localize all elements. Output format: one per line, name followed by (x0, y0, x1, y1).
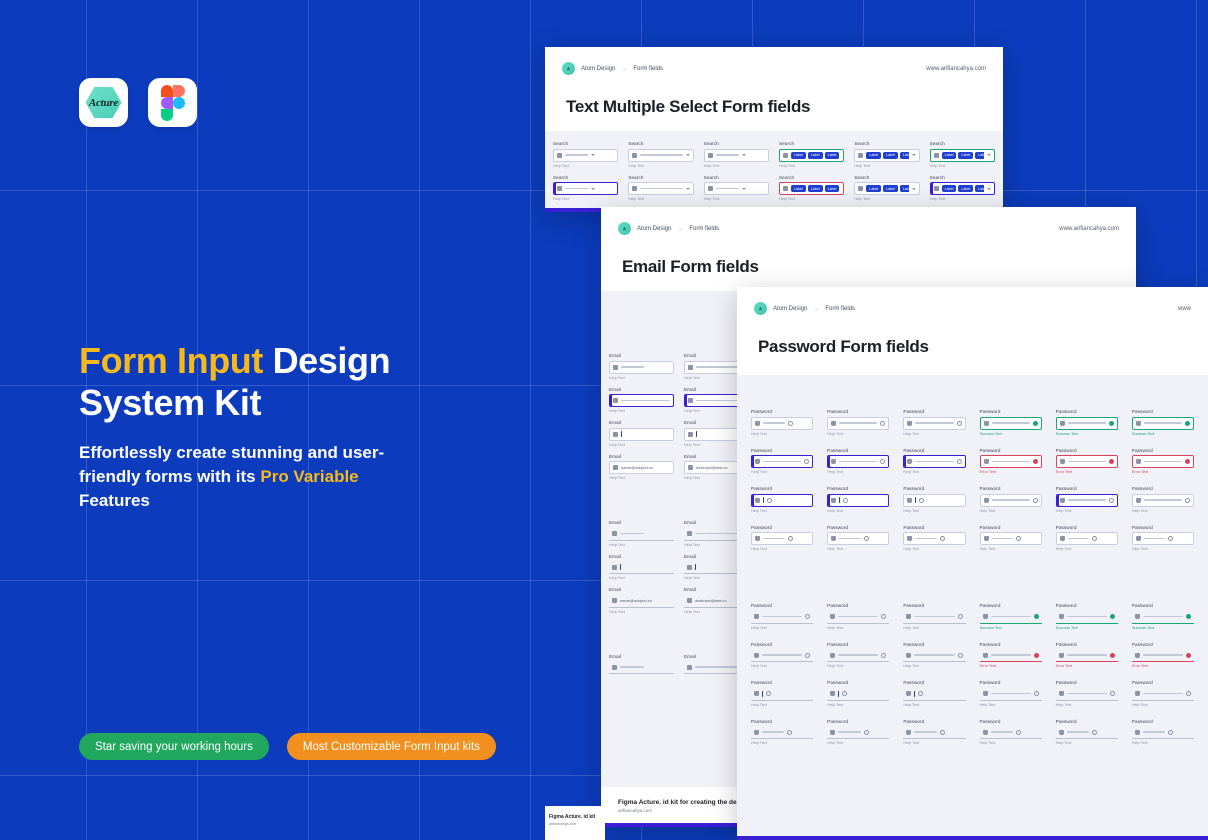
list-item[interactable]: Password Help Text (903, 719, 965, 746)
lock-icon (755, 459, 760, 464)
lock-icon (906, 730, 911, 735)
helper-text: Help Text (980, 741, 1042, 745)
eye-icon[interactable] (881, 614, 886, 619)
list-item[interactable]: Password Success Text (1056, 409, 1118, 436)
atom-logo-icon: A (562, 62, 575, 75)
list-item[interactable]: Password Help Text (751, 642, 813, 669)
chip-group: Label Label Label (942, 185, 984, 192)
mail-icon (612, 598, 617, 603)
list-item[interactable]: Password Success Text (980, 409, 1042, 436)
cta-secondary-button[interactable]: Most Customizable Form Input kits (287, 733, 496, 760)
lock-icon (831, 536, 836, 541)
breadcrumb-separator-icon: → (677, 226, 683, 232)
eye-icon[interactable] (842, 691, 847, 696)
helper-text: Help Text (779, 164, 844, 168)
eye-icon[interactable] (1186, 653, 1191, 658)
email-field: name@subject.co (609, 461, 674, 474)
card-header: A Atom Design → Form fields www.arifianc… (601, 207, 1136, 277)
list-item[interactable]: Password Help Text (980, 719, 1042, 746)
lock-icon (983, 653, 988, 658)
list-item[interactable]: Search Help Text (628, 175, 693, 202)
list-item[interactable]: Password Help Text (827, 642, 889, 669)
password-field (827, 726, 889, 739)
eye-icon[interactable] (1016, 536, 1021, 541)
chip[interactable]: Label (808, 152, 823, 159)
helper-text: Help Text (1056, 741, 1118, 745)
chip[interactable]: Label (883, 185, 898, 192)
lock-icon (907, 498, 912, 503)
chevron-down-icon[interactable] (987, 188, 991, 190)
list-item[interactable]: Password Help Text (1132, 680, 1194, 707)
list-item[interactable]: Password Error Text (980, 448, 1042, 475)
list-item[interactable]: Password Help Text (1132, 486, 1194, 513)
card-url: www.arifiancahya.com (926, 66, 986, 72)
chip[interactable]: Label (866, 152, 881, 159)
field-label: Password (980, 448, 1042, 453)
list-item[interactable]: Password Error Text (1132, 448, 1194, 475)
list-item[interactable]: Search Label Label Label Help Text (854, 141, 919, 168)
lock-icon (755, 421, 760, 426)
list-item[interactable]: Password Success Text (980, 603, 1042, 630)
list-item[interactable]: Password Help Text (827, 680, 889, 707)
helper-text: Error Text (1056, 470, 1118, 474)
list-item[interactable]: Password Help Text (751, 603, 813, 630)
helper-text: Help Text (628, 164, 693, 168)
chip[interactable]: Label (942, 185, 957, 192)
password-field (903, 726, 965, 739)
breadcrumb: A Atom Design → Form fields www (754, 302, 1191, 315)
helper-text: Help Text (609, 610, 674, 614)
list-item[interactable]: Password Help Text (751, 719, 813, 746)
list-item[interactable]: Search Help Text (704, 141, 769, 168)
helper-text: Help Text (609, 443, 674, 447)
eye-icon[interactable] (918, 691, 923, 696)
email-value: name@subject.co (621, 465, 670, 470)
list-item[interactable]: Password Help Text (751, 486, 813, 513)
password-field (1132, 417, 1194, 430)
eye-icon[interactable] (864, 730, 869, 735)
list-item[interactable]: Search Label Label Label Help Text (854, 175, 919, 202)
chevron-down-icon[interactable] (912, 188, 916, 190)
list-item[interactable]: Password Error Text (1132, 642, 1194, 669)
list-item[interactable]: Password Help Text (751, 448, 813, 475)
eye-icon[interactable] (1109, 459, 1114, 464)
helper-text: Help Text (827, 470, 889, 474)
acture-logo: Acture (79, 78, 128, 127)
list-item[interactable]: Password Help Text (827, 719, 889, 746)
search-input-chips: Label Label Label (779, 182, 844, 195)
list-item[interactable]: Search Help Text (704, 175, 769, 202)
chevron-down-icon[interactable] (686, 154, 690, 156)
breadcrumb-brand[interactable]: Atom Design (773, 306, 807, 312)
field-label: Password (903, 603, 965, 608)
lock-icon (831, 498, 836, 503)
password-field (1056, 726, 1118, 739)
search-icon (557, 186, 562, 191)
chip[interactable]: Label (958, 185, 973, 192)
password-field (1056, 455, 1118, 468)
list-item[interactable]: Password Success Text (1132, 409, 1194, 436)
lock-icon (830, 614, 835, 619)
helper-text: Help Text (751, 470, 813, 474)
list-item[interactable]: Search Label Label Label Help Text (930, 141, 995, 168)
list-item[interactable]: Email Help Text (609, 420, 674, 447)
acture-logo-label: Acture (86, 86, 122, 120)
list-item[interactable]: Password Success Text (1132, 603, 1194, 630)
list-item[interactable]: Search Help Text (553, 175, 618, 202)
helper-text: Help Text (751, 703, 813, 707)
list-item[interactable]: Password Help Text (903, 409, 965, 436)
list-item[interactable]: Search Label Label Label Help Text (779, 141, 844, 168)
eye-icon[interactable] (805, 653, 810, 658)
field-grid-email: Email Help Text Email Help Text Email He… (609, 353, 749, 480)
password-field (980, 688, 1042, 701)
password-field (827, 455, 889, 468)
helper-text: Help Text (1132, 741, 1194, 745)
breadcrumb-brand[interactable]: Atom Design (637, 226, 671, 232)
chip-group: Label Label Label (791, 152, 840, 159)
password-field (1056, 688, 1118, 701)
email-field (609, 428, 674, 441)
helper-text: Help Text (609, 409, 674, 413)
lock-icon (1060, 459, 1065, 464)
helper-text: Error Text (1056, 664, 1118, 668)
eye-icon[interactable] (1092, 730, 1097, 735)
eye-icon[interactable] (1109, 498, 1114, 503)
field-label: Password (1132, 486, 1194, 491)
chip[interactable]: Label (825, 152, 840, 159)
email-field (609, 528, 674, 541)
password-field (980, 532, 1042, 545)
password-field (751, 532, 813, 545)
lock-icon (907, 536, 912, 541)
eye-icon[interactable] (1186, 614, 1191, 619)
chip[interactable]: Label (791, 185, 806, 192)
field-label: Password (980, 486, 1042, 491)
helper-text: Help Text (827, 741, 889, 745)
field-label: Password (1056, 680, 1118, 685)
helper-text: Help Text (751, 741, 813, 745)
chip[interactable]: Label (975, 185, 984, 192)
field-label: Password (1132, 603, 1194, 608)
field-label: Password (827, 719, 889, 724)
list-item[interactable]: Password Help Text (903, 603, 965, 630)
chip[interactable]: Label (866, 185, 881, 192)
chip[interactable]: Label (958, 152, 973, 159)
headline-accent: Form Input (79, 340, 263, 381)
field-label: Password (903, 409, 965, 414)
field-label: Email (609, 353, 674, 358)
list-item[interactable]: Password Help Text (827, 603, 889, 630)
list-item[interactable]: Email Help Text (609, 520, 674, 547)
helper-text: Help Text (609, 543, 674, 547)
password-field (827, 417, 889, 430)
figma-logo (148, 78, 197, 127)
lock-icon (755, 536, 760, 541)
eye-icon[interactable] (1110, 691, 1115, 696)
card-password-form-fields[interactable]: A Atom Design → Form fields www Password… (737, 287, 1208, 840)
breadcrumb-brand[interactable]: Atom Design (581, 66, 615, 72)
eye-icon[interactable] (919, 498, 924, 503)
password-field (903, 649, 965, 662)
list-item[interactable]: Password Help Text (1056, 719, 1118, 746)
field-grid-password-underline: Password Help Text Password Help Text Pa… (751, 603, 1194, 745)
lock-icon (1060, 421, 1065, 426)
list-item[interactable]: Password Help Text (903, 680, 965, 707)
list-item[interactable]: Email (609, 654, 674, 675)
mail-icon (612, 665, 617, 670)
helper-text: Help Text (751, 664, 813, 668)
acture-hexagon-icon: Acture (86, 86, 122, 120)
lock-icon (1135, 614, 1140, 619)
password-field (903, 455, 965, 468)
chevron-down-icon[interactable] (742, 154, 746, 156)
eye-icon[interactable] (766, 691, 771, 696)
eye-icon[interactable] (1033, 421, 1038, 426)
lock-icon (831, 421, 836, 426)
card-url: www.arifiancahya.com (1059, 226, 1119, 232)
chevron-down-icon[interactable] (912, 154, 916, 156)
field-label: Password (903, 642, 965, 647)
list-item[interactable]: Password Help Text (1056, 525, 1118, 552)
eye-icon[interactable] (958, 653, 963, 658)
list-item[interactable]: Email name@subject.co Help Text (609, 454, 674, 481)
list-item[interactable]: Password Help Text (903, 525, 965, 552)
helper-text: Help Text (903, 626, 965, 630)
hero-content: Acture Form Input Design System Kit Effo… (0, 0, 545, 840)
lock-icon (1059, 653, 1064, 658)
eye-icon[interactable] (1168, 730, 1173, 735)
field-label: Password (1056, 642, 1118, 647)
list-item[interactable]: Password Help Text (827, 525, 889, 552)
helper-text: Help Text (930, 197, 995, 201)
eye-icon[interactable] (1034, 691, 1039, 696)
chip[interactable]: Label (900, 185, 909, 192)
eye-icon[interactable] (787, 730, 792, 735)
list-item[interactable]: Password Help Text (751, 409, 813, 436)
password-field (980, 494, 1042, 507)
eye-icon[interactable] (1034, 653, 1039, 658)
lock-icon (830, 691, 835, 696)
list-item[interactable]: Search Label Label Label Help Text (930, 175, 995, 202)
helper-text: Help Text (827, 432, 889, 436)
eye-icon[interactable] (957, 459, 962, 464)
list-item[interactable]: Email Help Text (609, 387, 674, 414)
list-item[interactable]: Password Help Text (980, 486, 1042, 513)
eye-icon[interactable] (880, 421, 885, 426)
chip[interactable]: Label (883, 152, 898, 159)
list-item[interactable]: Password Help Text (1056, 680, 1118, 707)
field-label: Email (609, 520, 674, 525)
field-label: Search (553, 175, 618, 180)
eye-icon[interactable] (1092, 536, 1097, 541)
list-item[interactable]: Search Help Text (553, 141, 618, 168)
password-field (1056, 611, 1118, 624)
helper-text: Help Text (827, 509, 889, 513)
field-label: Password (827, 525, 889, 530)
field-label: Search (930, 141, 995, 146)
password-field (827, 532, 889, 545)
eye-icon[interactable] (940, 536, 945, 541)
breadcrumb-separator-icon: → (813, 306, 819, 312)
eye-icon[interactable] (1033, 459, 1038, 464)
lock-icon (906, 691, 911, 696)
headline-rest: Design (263, 340, 390, 381)
search-input (704, 182, 769, 195)
helper-text: Help Text (1132, 509, 1194, 513)
mail-icon (612, 531, 617, 536)
subtitle-accent: Pro Variable (260, 467, 358, 486)
list-item[interactable]: Email Help Text (609, 353, 674, 380)
logo-row: Acture (79, 78, 197, 127)
chevron-down-icon[interactable] (591, 154, 595, 156)
eye-icon[interactable] (1109, 421, 1114, 426)
lock-icon (1060, 498, 1065, 503)
helper-text: Help Text (903, 664, 965, 668)
card-text-multiple-select[interactable]: A Atom Design → Form fields www.arifianc… (545, 47, 1003, 212)
eye-icon[interactable] (1185, 421, 1190, 426)
list-item[interactable]: Password Error Text (1056, 642, 1118, 669)
eye-icon[interactable] (1034, 614, 1039, 619)
list-item[interactable]: Password Help Text (1056, 486, 1118, 513)
eye-icon[interactable] (804, 459, 809, 464)
eye-icon[interactable] (864, 536, 869, 541)
lock-icon (906, 614, 911, 619)
eye-icon[interactable] (1185, 498, 1190, 503)
chip[interactable]: Label (808, 185, 823, 192)
password-field (980, 611, 1042, 624)
chevron-down-icon[interactable] (686, 188, 690, 190)
figma-icon (161, 85, 185, 120)
lock-icon (1059, 614, 1064, 619)
helper-text: Help Text (1056, 703, 1118, 707)
mail-icon (688, 465, 693, 470)
email-field (609, 361, 674, 374)
cta-row: Star saving your working hours Most Cust… (79, 733, 496, 760)
list-item[interactable]: Password Help Text (827, 448, 889, 475)
eye-icon[interactable] (958, 614, 963, 619)
chip[interactable]: Label (975, 152, 984, 159)
password-field (980, 417, 1042, 430)
eye-icon[interactable] (880, 459, 885, 464)
list-item[interactable]: Search Help Text (628, 141, 693, 168)
list-item[interactable]: Password Help Text (751, 525, 813, 552)
lock-icon (754, 614, 759, 619)
field-label: Password (1132, 642, 1194, 647)
list-item[interactable]: Password Success Text (1056, 603, 1118, 630)
helper-text: Success Text (1132, 626, 1194, 630)
list-item[interactable]: Password Help Text (827, 409, 889, 436)
eye-icon[interactable] (1168, 536, 1173, 541)
eye-icon[interactable] (788, 421, 793, 426)
eye-icon[interactable] (881, 653, 886, 658)
breadcrumb-page[interactable]: Form fields (689, 226, 719, 232)
card-body-password: Password Help Text Password Help Text Pa… (737, 375, 1208, 836)
eye-icon[interactable] (1110, 653, 1115, 658)
mail-icon (688, 432, 693, 437)
password-field (827, 649, 889, 662)
mail-icon (613, 465, 618, 470)
chip[interactable]: Label (942, 152, 957, 159)
chevron-down-icon[interactable] (742, 188, 746, 190)
helper-text: Help Text (827, 703, 889, 707)
list-item[interactable]: Password Help Text (903, 642, 965, 669)
email-field (609, 394, 674, 407)
chip[interactable]: Label (791, 152, 806, 159)
list-item[interactable]: Password Error Text (980, 642, 1042, 669)
lock-icon (907, 421, 912, 426)
mail-icon (688, 398, 693, 403)
field-label: Password (903, 525, 965, 530)
chip[interactable]: Label (825, 185, 840, 192)
field-label: Password (751, 680, 813, 685)
list-item[interactable]: Email name@subject.co Help Text (609, 587, 674, 614)
list-item[interactable]: Search Label Label Label Help Text (779, 175, 844, 202)
lock-icon (830, 730, 835, 735)
list-item[interactable]: Password Help Text (903, 486, 965, 513)
breadcrumb-page[interactable]: Form fields (825, 306, 855, 312)
chevron-down-icon[interactable] (591, 188, 595, 190)
field-label: Password (980, 409, 1042, 414)
password-field (980, 649, 1042, 662)
eye-icon[interactable] (767, 498, 772, 503)
eye-icon[interactable] (1185, 459, 1190, 464)
list-item[interactable]: Password Help Text (980, 680, 1042, 707)
mail-icon (613, 365, 618, 370)
cta-primary-button[interactable]: Star saving your working hours (79, 733, 269, 760)
password-field (751, 726, 813, 739)
field-label: Password (903, 680, 965, 685)
list-item[interactable]: Password Help Text (1132, 719, 1194, 746)
password-field (1056, 649, 1118, 662)
eye-icon[interactable] (1016, 730, 1021, 735)
field-label: Password (751, 486, 813, 491)
password-field (903, 611, 965, 624)
field-label: Password (903, 486, 965, 491)
field-label: Password (751, 448, 813, 453)
list-item[interactable]: Password Help Text (903, 448, 965, 475)
breadcrumb-page[interactable]: Form fields (633, 66, 663, 72)
chip-group: Label Label Label (866, 152, 908, 159)
footer-url: arifiancahya.com (549, 822, 605, 826)
eye-icon[interactable] (805, 614, 810, 619)
list-item[interactable]: Email Help Text (609, 554, 674, 581)
eye-icon[interactable] (1033, 498, 1038, 503)
list-item[interactable]: Password Help Text (827, 486, 889, 513)
chip[interactable]: Label (900, 152, 909, 159)
field-label: Password (751, 642, 813, 647)
eye-icon[interactable] (940, 730, 945, 735)
lock-icon (906, 653, 911, 658)
helper-text: Help Text (827, 626, 889, 630)
chevron-down-icon[interactable] (987, 154, 991, 156)
lock-icon (983, 730, 988, 735)
eye-icon[interactable] (843, 498, 848, 503)
eye-icon[interactable] (957, 421, 962, 426)
field-label: Password (1056, 409, 1118, 414)
helper-text: Help Text (704, 164, 769, 168)
email-field: name@subject.co (609, 595, 674, 608)
list-item[interactable]: Password Help Text (751, 680, 813, 707)
eye-icon[interactable] (788, 536, 793, 541)
eye-icon[interactable] (1186, 691, 1191, 696)
helper-text: Help Text (609, 576, 674, 580)
eye-icon[interactable] (1110, 614, 1115, 619)
list-item[interactable]: Password Error Text (1056, 448, 1118, 475)
list-item[interactable]: Password Help Text (980, 525, 1042, 552)
lock-icon (1059, 691, 1064, 696)
list-item[interactable]: Password Help Text (1132, 525, 1194, 552)
